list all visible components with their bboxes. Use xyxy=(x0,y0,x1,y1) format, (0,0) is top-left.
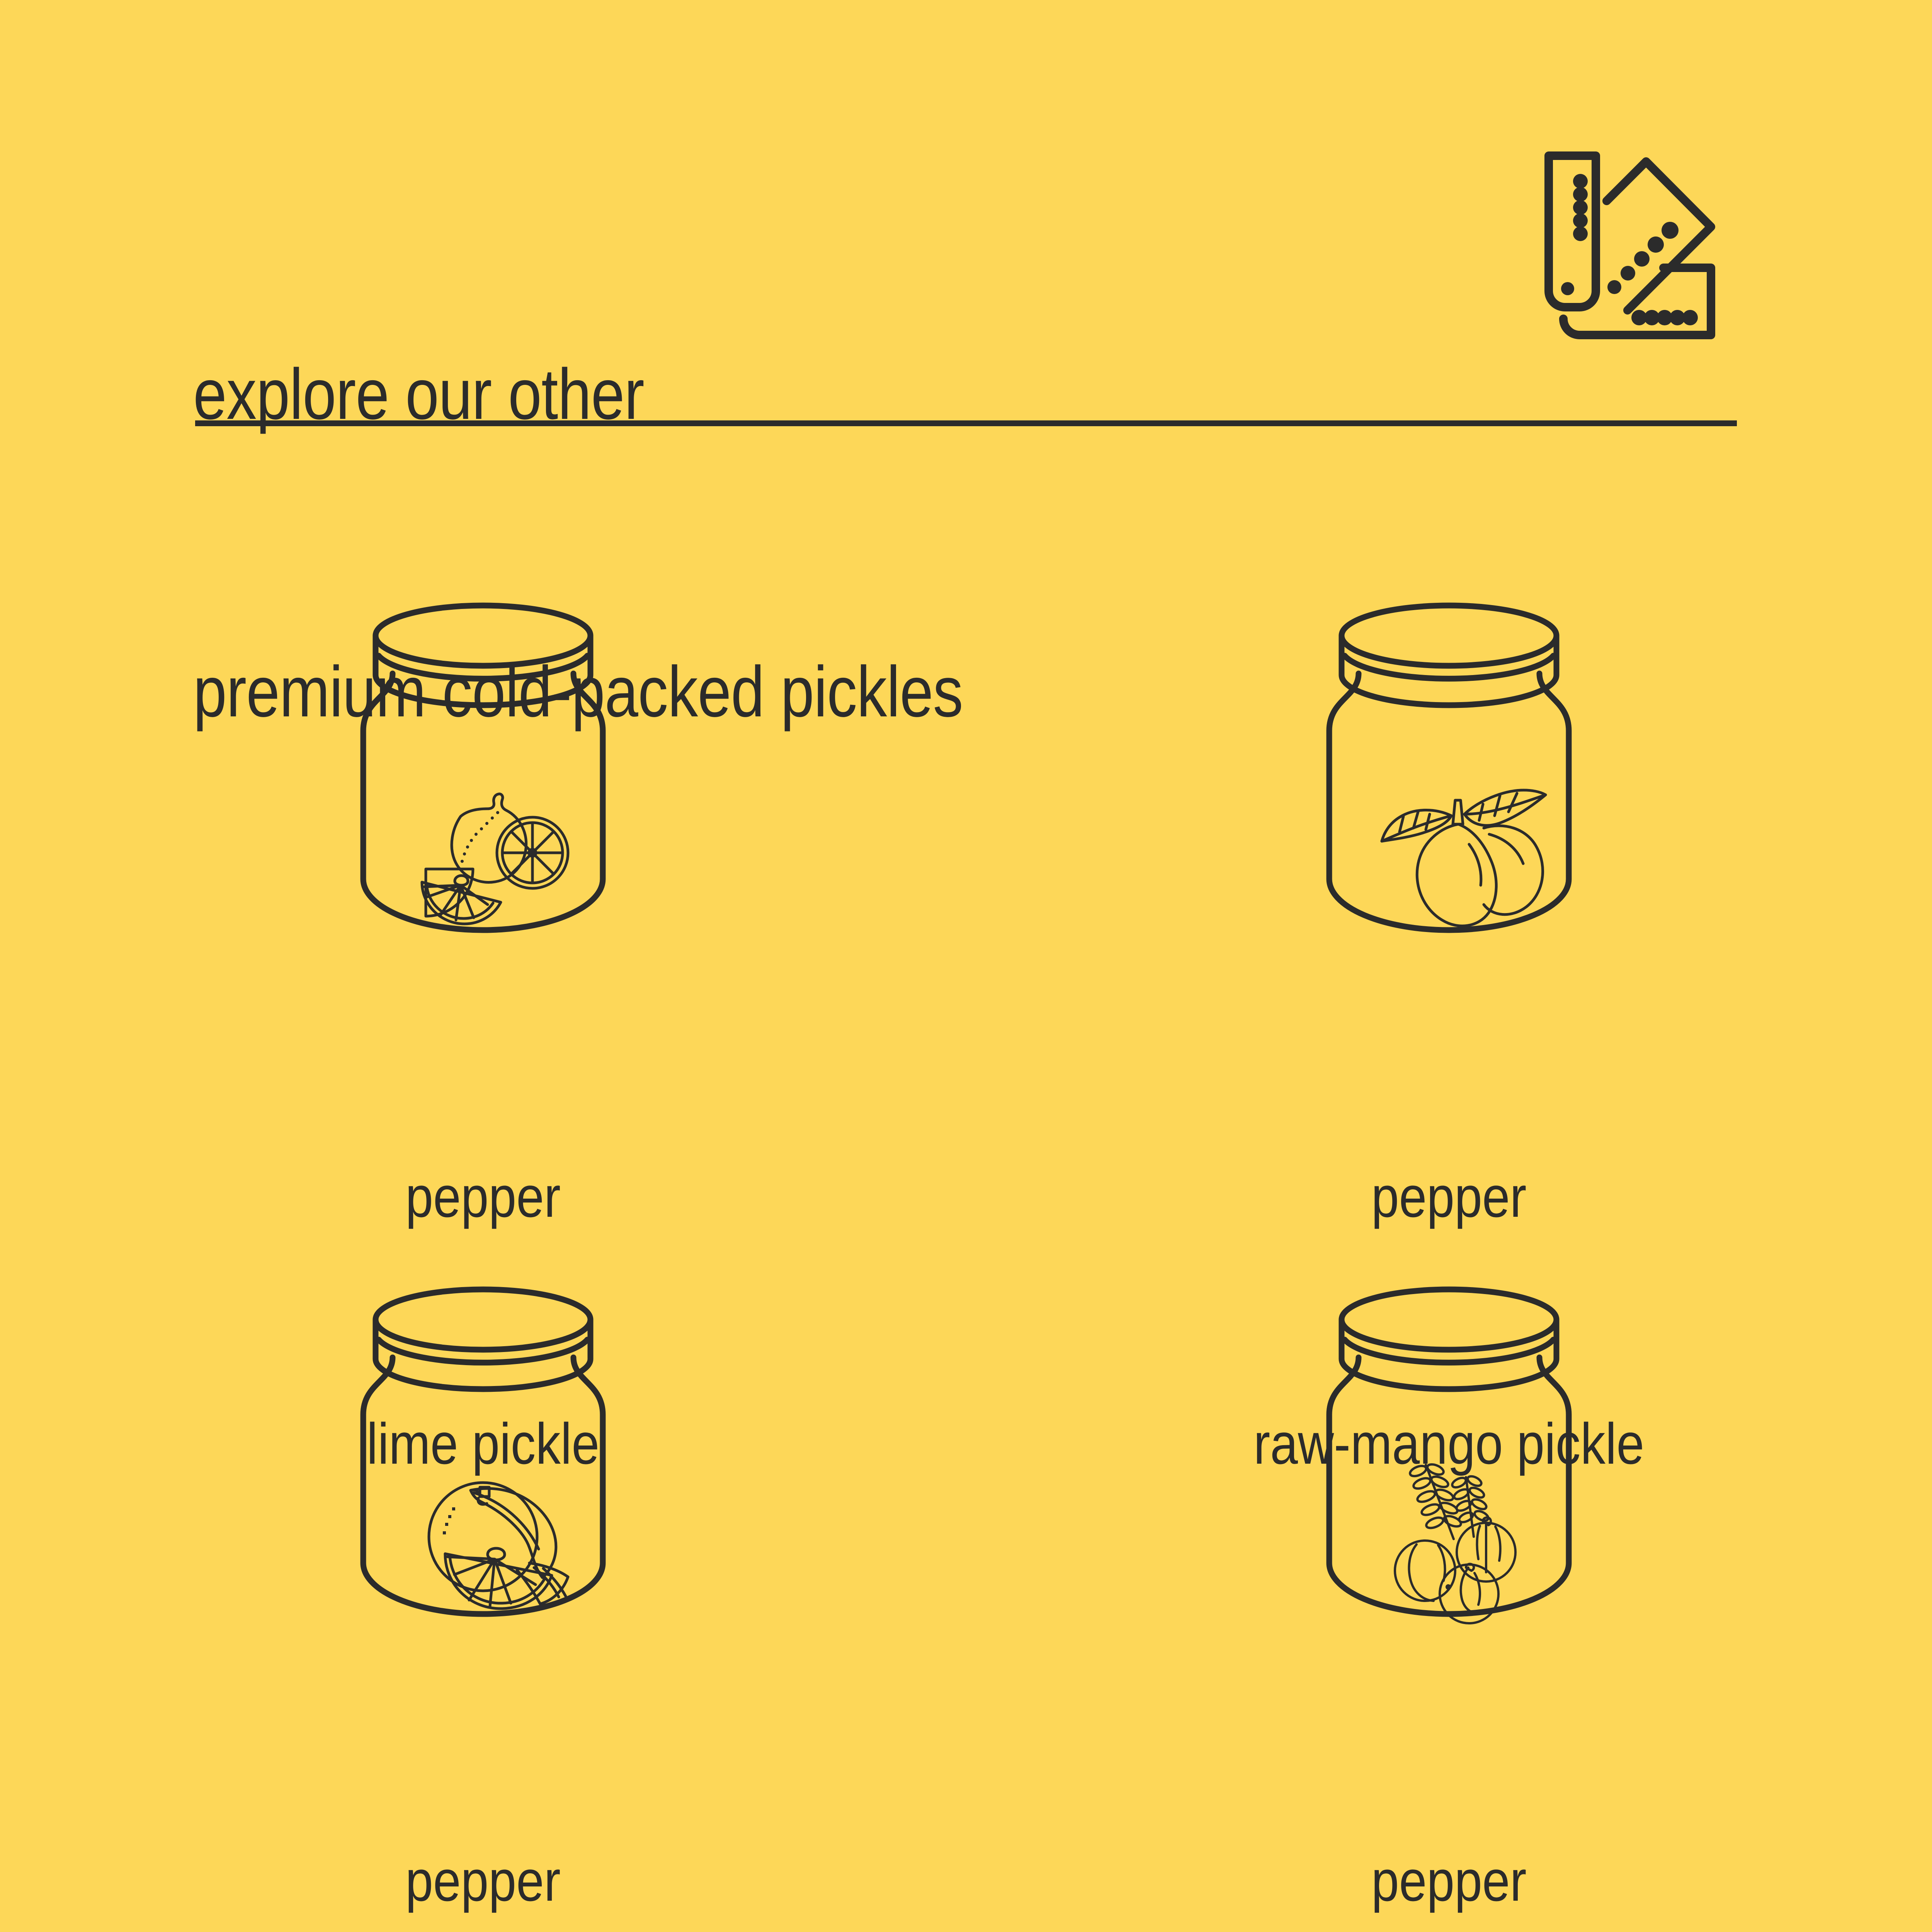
product-card-lime[interactable]: pepper lime pickle xyxy=(0,576,966,1260)
product-card-gooseberry[interactable]: pepper gooseberry pickle xyxy=(966,1260,1932,1932)
page-title-line-1: explore our other xyxy=(193,345,1264,444)
product-card-sour-orange[interactable]: pepper sour-orange pickle xyxy=(0,1260,966,1932)
poster-canvas: explore our other premium cold-packed pi… xyxy=(0,0,1932,1932)
product-label-line-1: pepper xyxy=(1253,1840,1644,1922)
product-label-sour-orange: pepper sour-orange pickle xyxy=(278,1675,688,1932)
header-divider xyxy=(195,420,1737,426)
product-label-line-1: pepper xyxy=(367,1156,599,1238)
product-grid: pepper lime pickle xyxy=(0,576,1932,1932)
product-card-raw-mango[interactable]: pepper raw-mango pickle xyxy=(966,576,1932,1260)
jar-with-lime-icon xyxy=(336,593,630,941)
product-label-gooseberry: pepper gooseberry pickle xyxy=(1253,1675,1644,1932)
jar-with-gooseberry-icon xyxy=(1302,1277,1596,1625)
product-label-line-1: pepper xyxy=(278,1840,688,1922)
product-label-line-1: pepper xyxy=(1254,1156,1645,1238)
jar-with-sour-orange-icon xyxy=(336,1277,630,1625)
jar-with-raw-mango-icon xyxy=(1302,593,1596,941)
color-swatch-cards-icon xyxy=(1530,137,1716,369)
